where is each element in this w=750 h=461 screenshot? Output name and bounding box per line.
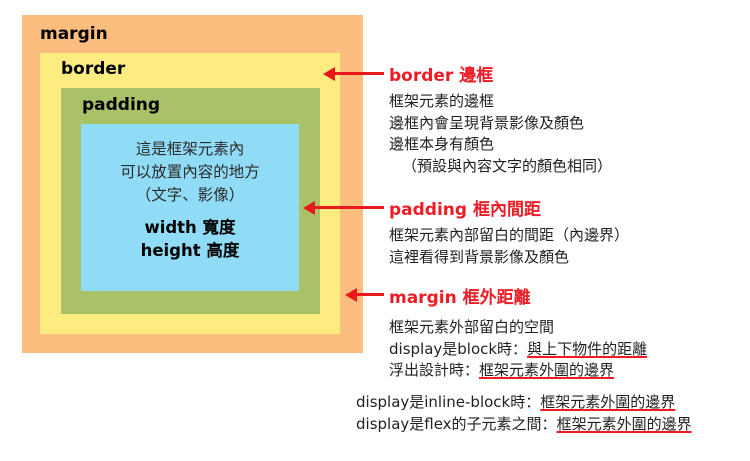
- lower-notes-block: display是inline-block時：框架元素外圍的邊界 display是…: [356, 391, 692, 435]
- lower-note-flex: display是flex的子元素之間：框架元素外圍的邊界: [356, 413, 692, 435]
- annotation-padding-body: 框架元素內部留白的間距（內邊界） 這裡看得到背景影像及顏色: [389, 225, 629, 268]
- lower-note-inline-block-underlined: 框架元素外圍的邊界: [540, 393, 675, 411]
- annotation-margin-heading: margin 框外距離: [389, 283, 647, 308]
- label-margin: margin: [40, 24, 108, 44]
- annotation-border-line-4: （預設與內容文字的顏色相同）: [389, 156, 612, 178]
- content-text-line-1: 這是框架元素內: [136, 138, 245, 161]
- annotation-border: border 邊框 框架元素的邊框 邊框內會呈現背景影像及顏色 邊框本身有顏色 …: [389, 61, 612, 177]
- annotation-margin-float-prefix: 浮出設計時：: [389, 361, 479, 379]
- annotation-margin-float-underlined: 框架元素外圍的邊界: [479, 361, 614, 379]
- lower-note-flex-prefix: display是flex的子元素之間：: [356, 415, 557, 433]
- content-text-line-2: 可以放置內容的地方: [120, 161, 260, 184]
- annotation-border-line-2: 邊框內會呈現背景影像及顏色: [389, 113, 612, 135]
- annotation-border-heading: border 邊框: [389, 61, 612, 86]
- annotation-padding: padding 框內間距 框架元素內部留白的間距（內邊界） 這裡看得到背景影像及…: [389, 195, 629, 268]
- arrow-to-padding-area: [314, 206, 384, 209]
- annotation-padding-heading: padding 框內間距: [389, 195, 629, 220]
- label-border: border: [61, 59, 125, 79]
- annotation-border-body: 框架元素的邊框 邊框內會呈現背景影像及顏色 邊框本身有顏色 （預設與內容文字的顏…: [389, 91, 612, 177]
- annotation-margin-block-prefix: display是block時：: [389, 340, 527, 358]
- annotation-margin-line-1: 框架元素外部留白的空間: [389, 317, 647, 339]
- annotation-border-line-3: 邊框本身有顏色: [389, 134, 612, 156]
- content-text-width: width 寬度: [144, 216, 235, 239]
- annotation-padding-line-1: 框架元素內部留白的間距（內邊界）: [389, 225, 629, 247]
- annotation-margin-body: 框架元素外部留白的空間 display是block時：與上下物件的距離 浮出設計…: [389, 317, 647, 382]
- box-model-content-area: 這是框架元素內 可以放置內容的地方 （文字、影像） width 寬度 heigh…: [81, 124, 299, 291]
- annotation-border-line-1: 框架元素的邊框: [389, 91, 612, 113]
- arrow-to-border-area: [334, 72, 384, 75]
- lower-note-inline-block-prefix: display是inline-block時：: [356, 393, 540, 411]
- annotation-margin: margin 框外距離 框架元素外部留白的空間 display是block時：與…: [389, 283, 647, 382]
- lower-note-flex-underlined: 框架元素外圍的邊界: [557, 415, 692, 433]
- lower-note-inline-block: display是inline-block時：框架元素外圍的邊界: [356, 391, 692, 413]
- box-model-padding-area: 這是框架元素內 可以放置內容的地方 （文字、影像） width 寬度 heigh…: [61, 88, 320, 314]
- annotation-margin-line-block: display是block時：與上下物件的距離: [389, 339, 647, 361]
- arrow-to-margin-area: [356, 293, 384, 296]
- content-text-line-3: （文字、影像）: [136, 184, 245, 207]
- annotation-margin-line-float: 浮出設計時：框架元素外圍的邊界: [389, 360, 647, 382]
- label-padding: padding: [82, 95, 160, 115]
- annotation-padding-line-2: 這裡看得到背景影像及顏色: [389, 247, 629, 269]
- content-text-height: height 高度: [141, 239, 240, 262]
- annotation-margin-block-underlined: 與上下物件的距離: [527, 340, 647, 358]
